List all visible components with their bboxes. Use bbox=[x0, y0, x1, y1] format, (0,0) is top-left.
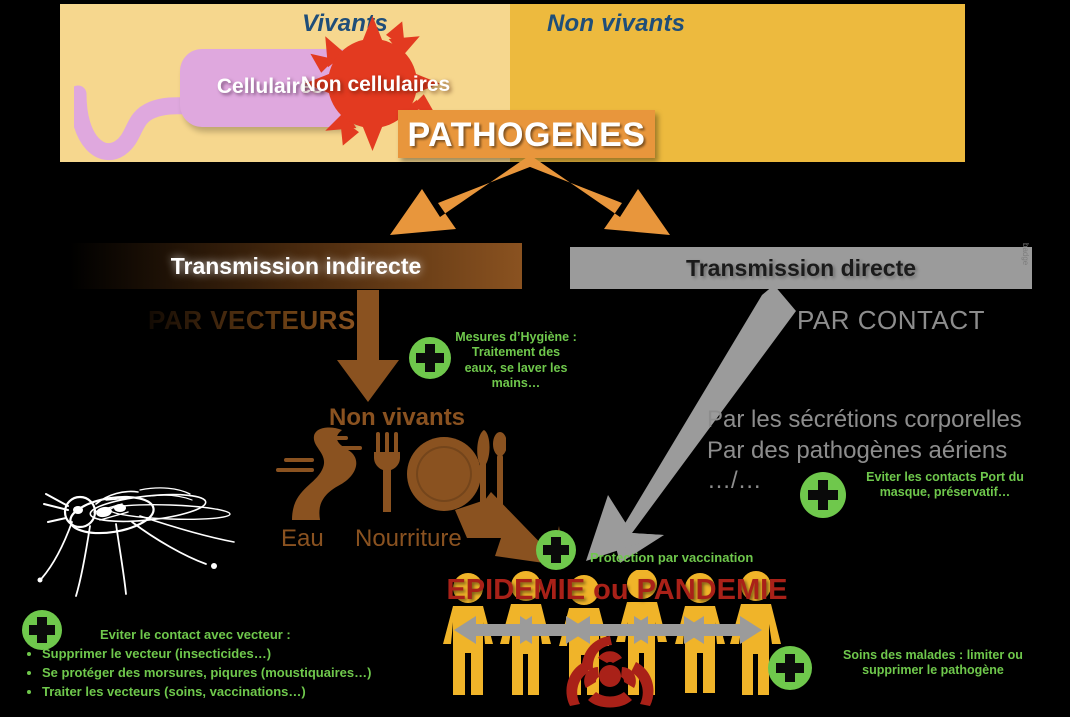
indirect-down-arrow bbox=[333, 290, 403, 402]
water-label: Eau bbox=[281, 525, 324, 553]
epidemic-pandemic-label: EPIDEMIE ou PANDEMIE bbox=[437, 574, 797, 607]
vector-prevention-title: Eviter le contact avec vecteur : bbox=[100, 627, 291, 643]
list-item: Se protéger des morsures, piqures (moust… bbox=[42, 663, 372, 682]
par-contact-subtitle: PAR CONTACT bbox=[797, 305, 985, 336]
pathogens-label: PATHOGENES bbox=[398, 116, 655, 155]
hygiene-measures-text: Mesures d’Hygiène : Traitement des eaux,… bbox=[455, 330, 577, 391]
bacterium-icon bbox=[74, 56, 194, 161]
transmission-direct-title: Transmission directe bbox=[570, 255, 1032, 282]
medical-cross-icon-hygiene bbox=[409, 337, 451, 379]
banner-heading-nonliving: Non vivants bbox=[547, 10, 685, 38]
medical-cross-icon-vaccination bbox=[536, 530, 576, 570]
transmission-indirect-bar: Transmission indirecte bbox=[70, 243, 522, 289]
vaccination-protection-text: Protection par vaccination bbox=[590, 550, 800, 566]
pathogens-split-arrows bbox=[380, 155, 680, 235]
pathogens-box: PATHOGENES bbox=[398, 110, 655, 158]
food-label: Nourriture bbox=[355, 525, 462, 553]
biohazard-icon bbox=[562, 632, 658, 717]
side-note-badge: badge bbox=[974, 243, 1030, 257]
infographic-canvas: Vivants Non vivants Cellulaires bbox=[0, 0, 1070, 717]
vector-prevention-list: Supprimer le vecteur (insecticides…) Se … bbox=[20, 644, 372, 702]
avoid-contacts-text: Eviter les contacts Port du masque, prés… bbox=[855, 470, 1035, 501]
transmission-direct-bar: Transmission directe bbox=[570, 247, 1032, 289]
list-item: Traiter les vecteurs (soins, vaccination… bbox=[42, 682, 372, 701]
patient-care-text: Soins des malades : limiter ou supprimer… bbox=[818, 648, 1048, 679]
mosquito-icon bbox=[20, 460, 255, 615]
noncellular-label: Non cellulaires bbox=[268, 73, 483, 97]
medical-cross-icon-care bbox=[768, 646, 812, 690]
route-line-1: Par les sécrétions corporelles bbox=[707, 405, 1022, 436]
par-vecteurs-subtitle: PAR VECTEURS bbox=[148, 305, 356, 336]
route-line-2: Par des pathogènes aériens bbox=[707, 436, 1022, 467]
medical-cross-icon-contacts bbox=[800, 472, 846, 518]
transmission-indirect-title: Transmission indirecte bbox=[70, 253, 522, 280]
list-item: Supprimer le vecteur (insecticides…) bbox=[42, 644, 372, 663]
